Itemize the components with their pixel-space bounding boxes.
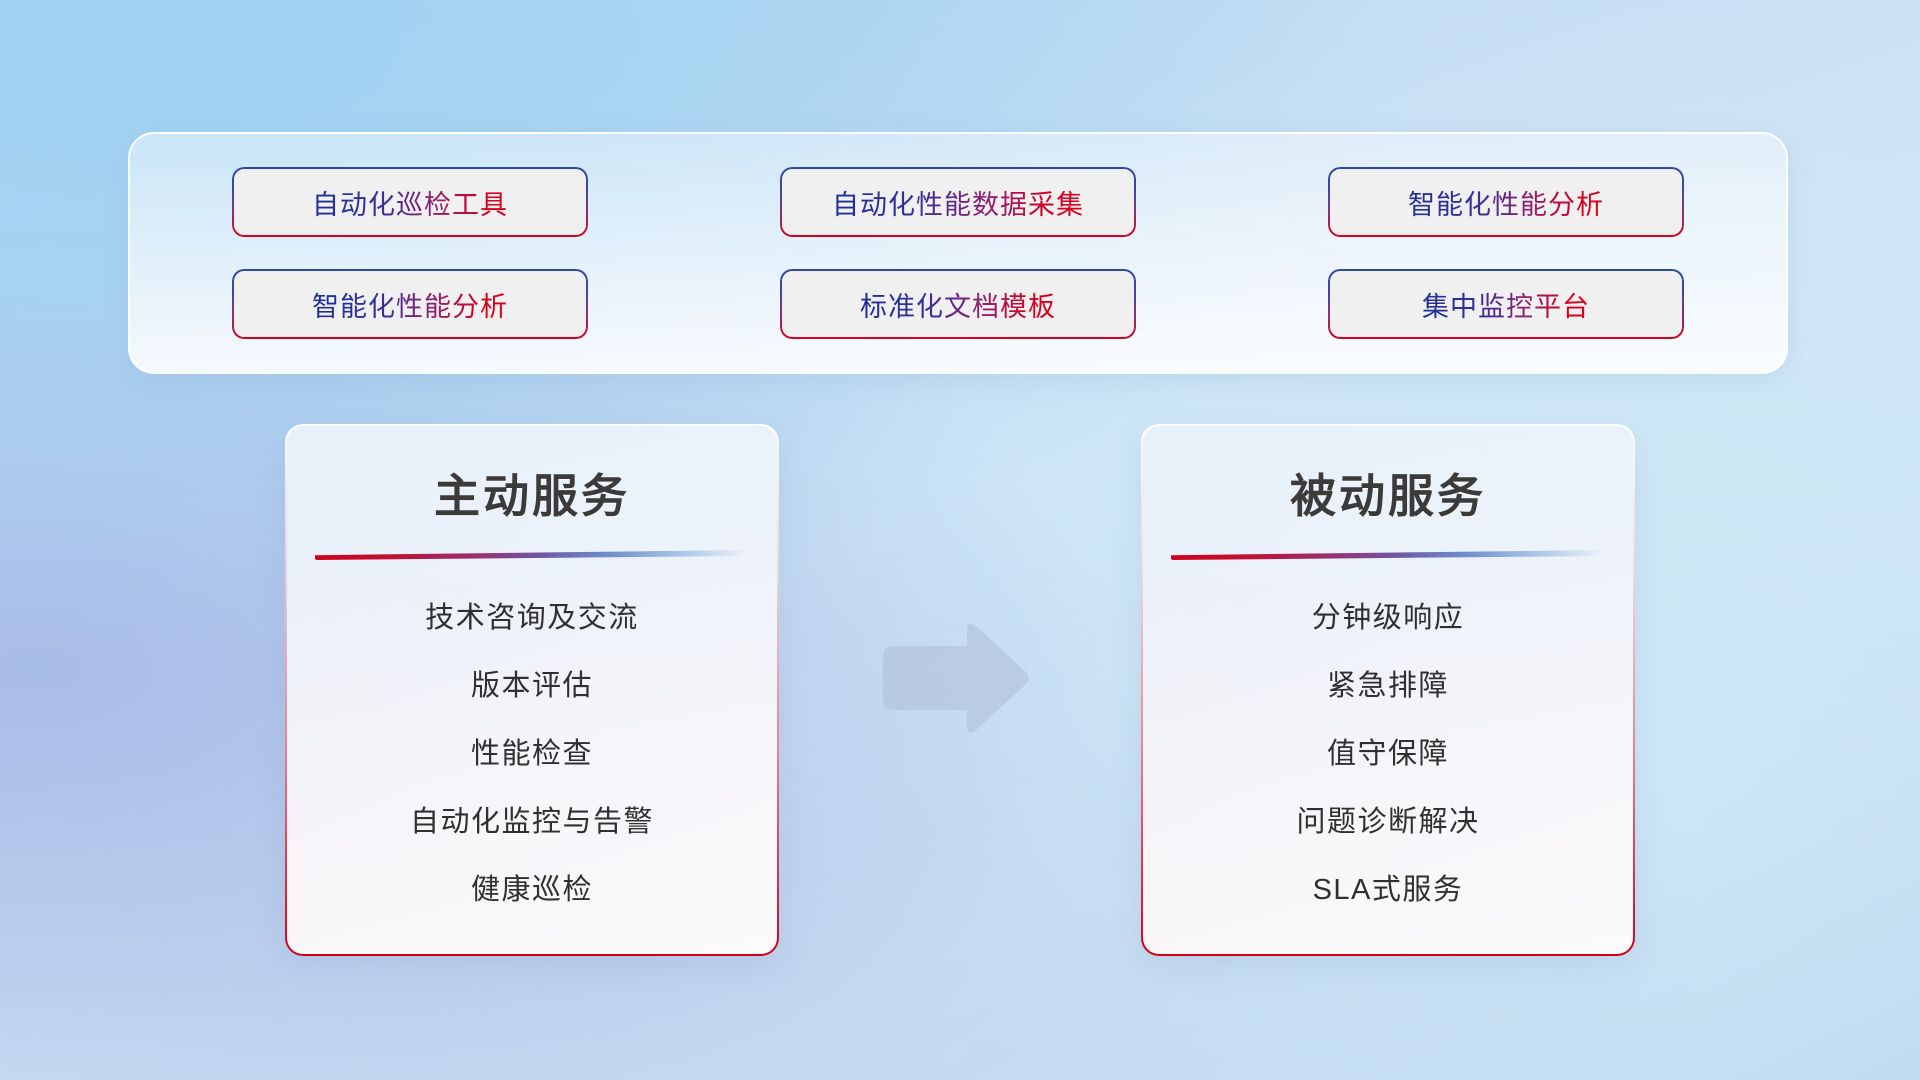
card-title: 被动服务	[1290, 460, 1486, 526]
list-item: 分钟级响应	[1312, 594, 1465, 636]
list-item: 技术咨询及交流	[425, 594, 639, 636]
capability-panel: 自动化巡检工具 自动化性能数据采集 智能化性能分析 智能化性能分析 标准化文档模…	[128, 132, 1788, 374]
arrow-right-icon	[875, 618, 1035, 738]
capability-pill-2[interactable]: 自动化性能数据采集	[780, 167, 1136, 237]
capability-pill-label: 集中监控平台	[1422, 285, 1590, 324]
list-item: 性能检查	[471, 730, 593, 772]
list-item: 健康巡检	[471, 866, 593, 908]
card-title: 主动服务	[434, 460, 630, 526]
card-divider	[1171, 550, 1605, 560]
capability-pill-label: 智能化性能分析	[1408, 183, 1604, 222]
card-surface: 被动服务 分钟级响应 紧急排障 值守保障 问题诊断解决 SLA式服务	[1143, 426, 1633, 954]
capability-pill-label: 自动化性能数据采集	[832, 183, 1084, 222]
list-item: 值守保障	[1327, 730, 1449, 772]
list-item: SLA式服务	[1313, 866, 1464, 908]
capability-pill-label: 智能化性能分析	[312, 285, 508, 324]
capability-pill-6[interactable]: 集中监控平台	[1328, 269, 1684, 339]
capability-pill-label: 标准化文档模板	[860, 285, 1056, 324]
list-item: 版本评估	[471, 662, 593, 704]
capability-pill-1[interactable]: 自动化巡检工具	[232, 167, 588, 237]
capability-pill-4[interactable]: 智能化性能分析	[232, 269, 588, 339]
list-item: 问题诊断解决	[1296, 798, 1479, 840]
card-item-list: 技术咨询及交流 版本评估 性能检查 自动化监控与告警 健康巡检	[287, 594, 777, 908]
service-card-passive: 被动服务 分钟级响应 紧急排障 值守保障 问题诊断解决 SLA式服务	[1141, 424, 1635, 956]
capability-pill-3[interactable]: 智能化性能分析	[1328, 167, 1684, 237]
service-card-active: 主动服务 技术咨询及交流 版本评估 性能检查 自动化监控与告警 健康巡检	[285, 424, 779, 956]
capability-pill-label: 自动化巡检工具	[312, 183, 508, 222]
card-surface: 主动服务 技术咨询及交流 版本评估 性能检查 自动化监控与告警 健康巡检	[287, 426, 777, 954]
card-item-list: 分钟级响应 紧急排障 值守保障 问题诊断解决 SLA式服务	[1143, 594, 1633, 908]
capability-pill-5[interactable]: 标准化文档模板	[780, 269, 1136, 339]
list-item: 自动化监控与告警	[410, 798, 654, 840]
list-item: 紧急排障	[1327, 662, 1449, 704]
card-divider	[315, 550, 749, 560]
